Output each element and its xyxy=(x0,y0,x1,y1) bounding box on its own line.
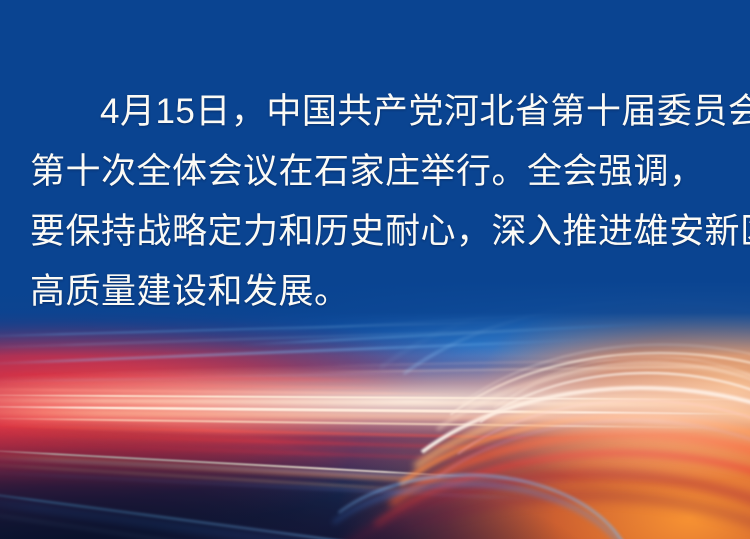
headline-line-1: 4月15日，中国共产党河北省第十届委员会 xyxy=(30,82,720,142)
headline-line-2: 第十次全体会议在石家庄举行。全会强调， xyxy=(30,142,720,202)
headline-line-4: 高质量建设和发展。 xyxy=(30,262,720,322)
headline-text-block: 4月15日，中国共产党河北省第十届委员会 第十次全体会议在石家庄举行。全会强调，… xyxy=(0,82,750,322)
poster-canvas: 4月15日，中国共产党河北省第十届委员会 第十次全体会议在石家庄举行。全会强调，… xyxy=(0,0,750,539)
headline-line-3: 要保持战略定力和历史耐心，深入推进雄安新区 xyxy=(30,202,720,262)
